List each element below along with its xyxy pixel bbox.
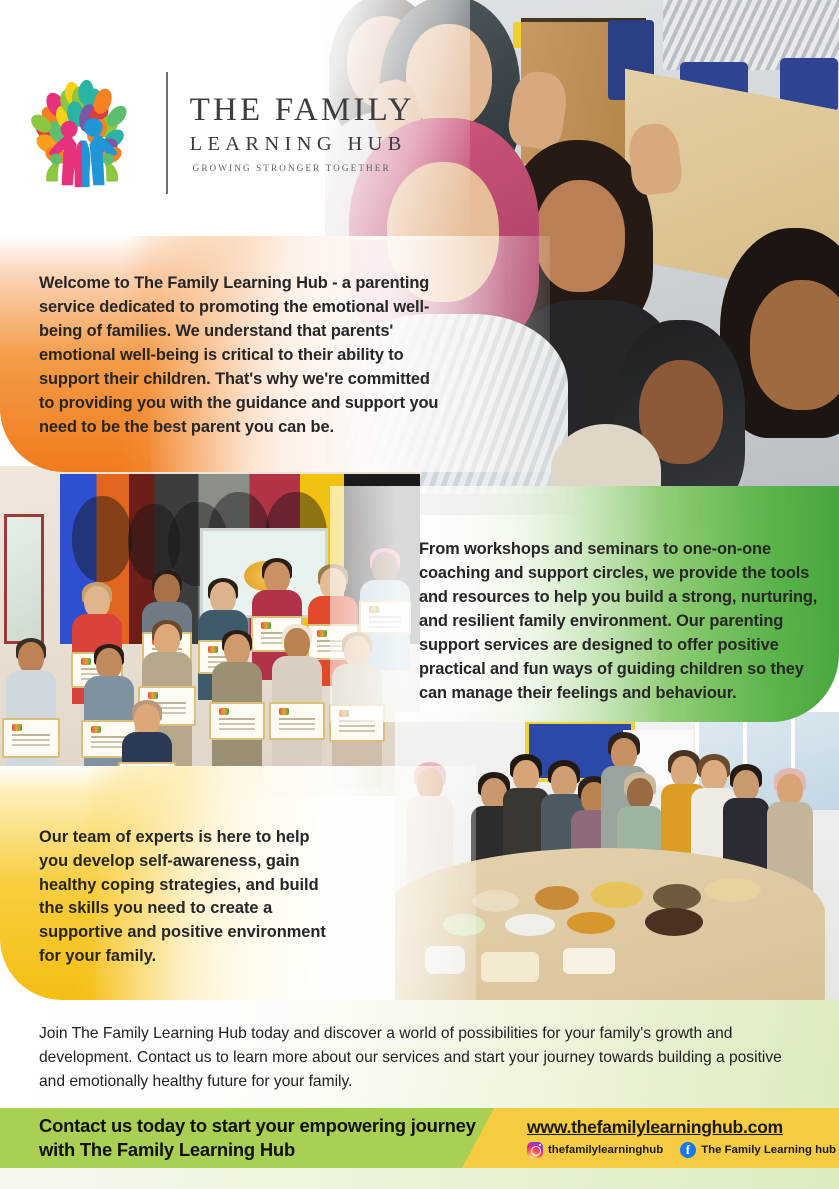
facebook-glyph: f [686, 1142, 690, 1158]
bottom-strip [0, 1168, 839, 1189]
instagram-handle[interactable]: thefamilylearninghub [548, 1144, 663, 1156]
logo-divider [166, 72, 168, 194]
flyer-page: THE FAMILY LEARNING HUB GROWING STRONGER… [0, 0, 839, 1189]
closing-text: Join The Family Learning Hub today and d… [39, 1022, 811, 1094]
facebook-handle[interactable]: The Family Learning hub [701, 1144, 836, 1156]
experts-text: Our team of experts is here to help you … [39, 826, 329, 969]
logo-tagline: GROWING STRONGER TOGETHER [190, 163, 415, 173]
footer-cta-text: Contact us today to start your empowerin… [39, 1114, 489, 1163]
instagram-icon[interactable] [527, 1142, 543, 1158]
social-links: thefamilylearninghub f The Family Learni… [527, 1142, 836, 1158]
brand-logo: THE FAMILY LEARNING HUB GROWING STRONGER… [28, 72, 415, 194]
website-link[interactable]: www.thefamilylearninghub.com [527, 1117, 783, 1138]
logo-title-line1: THE FAMILY [190, 93, 415, 128]
facebook-icon[interactable]: f [680, 1142, 696, 1158]
services-text: From workshops and seminars to one-on-on… [419, 538, 819, 706]
welcome-text: Welcome to The Family Learning Hub - a p… [39, 272, 443, 440]
family-tree-logo-icon [28, 77, 140, 189]
logo-title-line2: LEARNING HUB [190, 131, 415, 158]
